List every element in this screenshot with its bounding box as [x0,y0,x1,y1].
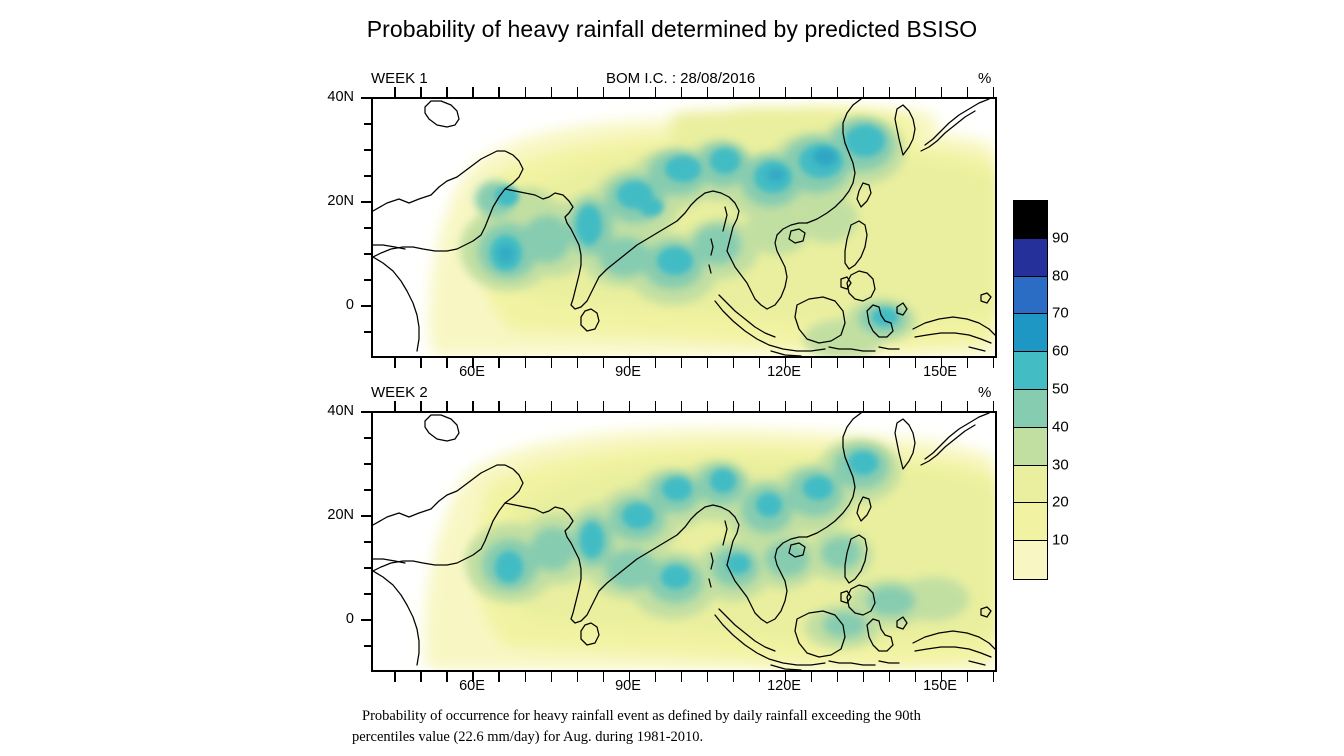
panel-1-label: WEEK 1 [371,70,428,87]
ytick-p2-40N [361,411,371,413]
xtick [993,90,995,97]
panel-2-unit: % [978,384,991,401]
xtick [629,87,631,97]
xtick [967,90,969,97]
ylabel-p1-40N: 40N [316,89,354,105]
colorbar-cell [1014,201,1047,239]
xtick [577,361,579,368]
xtick [707,90,709,97]
map-svg-week-2 [373,413,995,670]
xtick [655,361,657,368]
xtick [498,361,500,368]
ylabel-p2-0: 0 [316,611,354,627]
ytick-p1-minor [364,227,371,229]
xtick [863,90,865,97]
map-panel-week-1 [371,97,997,358]
ytick-p1-minor [364,253,371,255]
xtick [863,404,865,411]
xtick [603,675,605,682]
xtick [837,675,839,682]
colorbar-cell [1014,503,1047,541]
xtick [733,675,735,682]
xtick [420,675,422,682]
ytick-p1-minor [364,331,371,333]
ylabel-p1-20N: 20N [316,193,354,209]
colorbar-cell [1014,428,1047,466]
xtick [915,361,917,368]
colorbar-tick-label: 80 [1052,267,1069,284]
xtick [655,90,657,97]
xtick [551,361,553,368]
xtick [733,90,735,97]
xtick [472,87,474,97]
xtick [915,675,917,682]
xtick [889,675,891,682]
colorbar-tick-label: 10 [1052,532,1069,549]
xtick [629,401,631,411]
xtick [525,404,527,411]
colorbar-cell [1014,277,1047,315]
xtick [420,361,422,368]
colorbar-tick-label: 40 [1052,418,1069,435]
xtick [759,361,761,368]
xtick [863,361,865,368]
xtick [837,361,839,368]
xtick [863,675,865,682]
xtick [993,404,995,411]
panel-1-unit: % [978,70,991,87]
ytick-p1-20N [361,201,371,203]
xtick [655,675,657,682]
ytick-p2-0 [361,619,371,621]
colorbar-cell [1014,390,1047,428]
xtick [394,404,396,411]
xtick [811,675,813,682]
xlabel-p2-150E: 150E [923,678,957,694]
xtick [811,90,813,97]
xtick [655,404,657,411]
map-panel-week-2 [371,411,997,672]
colorbar-tick-label: 70 [1052,305,1069,322]
xtick [394,361,396,368]
ytick-p1-minor [364,149,371,151]
figure-root: Probability of heavy rainfall determined… [0,0,1344,756]
xtick [525,90,527,97]
xtick [446,675,448,682]
xtick [551,90,553,97]
ytick-p1-minor [364,279,371,281]
ytick-p2-minor [364,437,371,439]
xtick [967,404,969,411]
xtick [525,361,527,368]
xtick [420,90,422,97]
xtick [889,90,891,97]
ytick-p1-40N [361,97,371,99]
xtick [993,361,995,368]
ylabel-p2-40N: 40N [316,403,354,419]
colorbar-cell [1014,352,1047,390]
xtick [551,675,553,682]
xlabel-p1-60E: 60E [459,364,485,380]
ytick-p2-minor [364,567,371,569]
xtick [889,361,891,368]
colorbar-tick-label: 30 [1052,456,1069,473]
caption-line-1: Probability of occurrence for heavy rain… [352,706,1052,727]
page-title: Probability of heavy rainfall determined… [0,16,1344,43]
xlabel-p2-120E: 120E [767,678,801,694]
xtick [837,90,839,97]
xtick [915,90,917,97]
xtick [993,675,995,682]
ytick-p1-0 [361,305,371,307]
xtick [681,361,683,368]
xtick [603,361,605,368]
colorbar-tick-label: 20 [1052,494,1069,511]
xtick [733,361,735,368]
xtick [785,401,787,411]
map-svg-week-1 [373,99,995,356]
colorbar-cell [1014,239,1047,277]
xtick [707,404,709,411]
xtick [551,404,553,411]
xtick [681,404,683,411]
panel-2-label: WEEK 2 [371,384,428,401]
xlabel-p1-90E: 90E [615,364,641,380]
colorbar-tick-label: 50 [1052,381,1069,398]
xtick [498,90,500,97]
xtick [394,90,396,97]
ytick-p2-minor [364,593,371,595]
xtick [733,404,735,411]
xtick [915,404,917,411]
xtick [681,675,683,682]
ylabel-p1-0: 0 [316,297,354,313]
xtick [577,404,579,411]
xtick [759,404,761,411]
figure-caption: Probability of occurrence for heavy rain… [352,706,1052,747]
colorbar-cell [1014,541,1047,579]
xtick [785,87,787,97]
colorbar-cell [1014,314,1047,352]
xlabel-p2-60E: 60E [459,678,485,694]
ytick-p1-minor [364,123,371,125]
xtick [811,404,813,411]
ytick-p2-minor [364,541,371,543]
colorbar [1013,200,1048,580]
ytick-p2-minor [364,489,371,491]
xtick [603,404,605,411]
xtick [889,404,891,411]
initial-condition-label: BOM I.C. : 28/08/2016 [606,70,755,87]
xtick [603,90,605,97]
xtick [498,675,500,682]
xlabel-p1-150E: 150E [923,364,957,380]
xtick [941,401,943,411]
colorbar-cell [1014,466,1047,504]
xtick [837,404,839,411]
colorbar-tick-label: 60 [1052,343,1069,360]
xtick [967,675,969,682]
xtick [967,361,969,368]
xtick [759,675,761,682]
xtick [420,404,422,411]
xtick [707,361,709,368]
xtick [446,361,448,368]
xtick [811,361,813,368]
xtick [498,404,500,411]
xlabel-p1-120E: 120E [767,364,801,380]
xtick [446,404,448,411]
caption-line-2: percentiles value (22.6 mm/day) for Aug.… [352,727,1052,748]
xtick [681,90,683,97]
ytick-p2-minor [364,645,371,647]
xtick [472,401,474,411]
xtick [759,90,761,97]
ytick-p2-minor [364,463,371,465]
xtick [577,675,579,682]
ylabel-p2-20N: 20N [316,507,354,523]
xtick [577,90,579,97]
colorbar-tick-label: 90 [1052,229,1069,246]
ytick-p2-20N [361,515,371,517]
xlabel-p2-90E: 90E [615,678,641,694]
xtick [941,87,943,97]
xtick [394,675,396,682]
xtick [525,675,527,682]
xtick [707,675,709,682]
xtick [446,90,448,97]
ytick-p1-minor [364,175,371,177]
